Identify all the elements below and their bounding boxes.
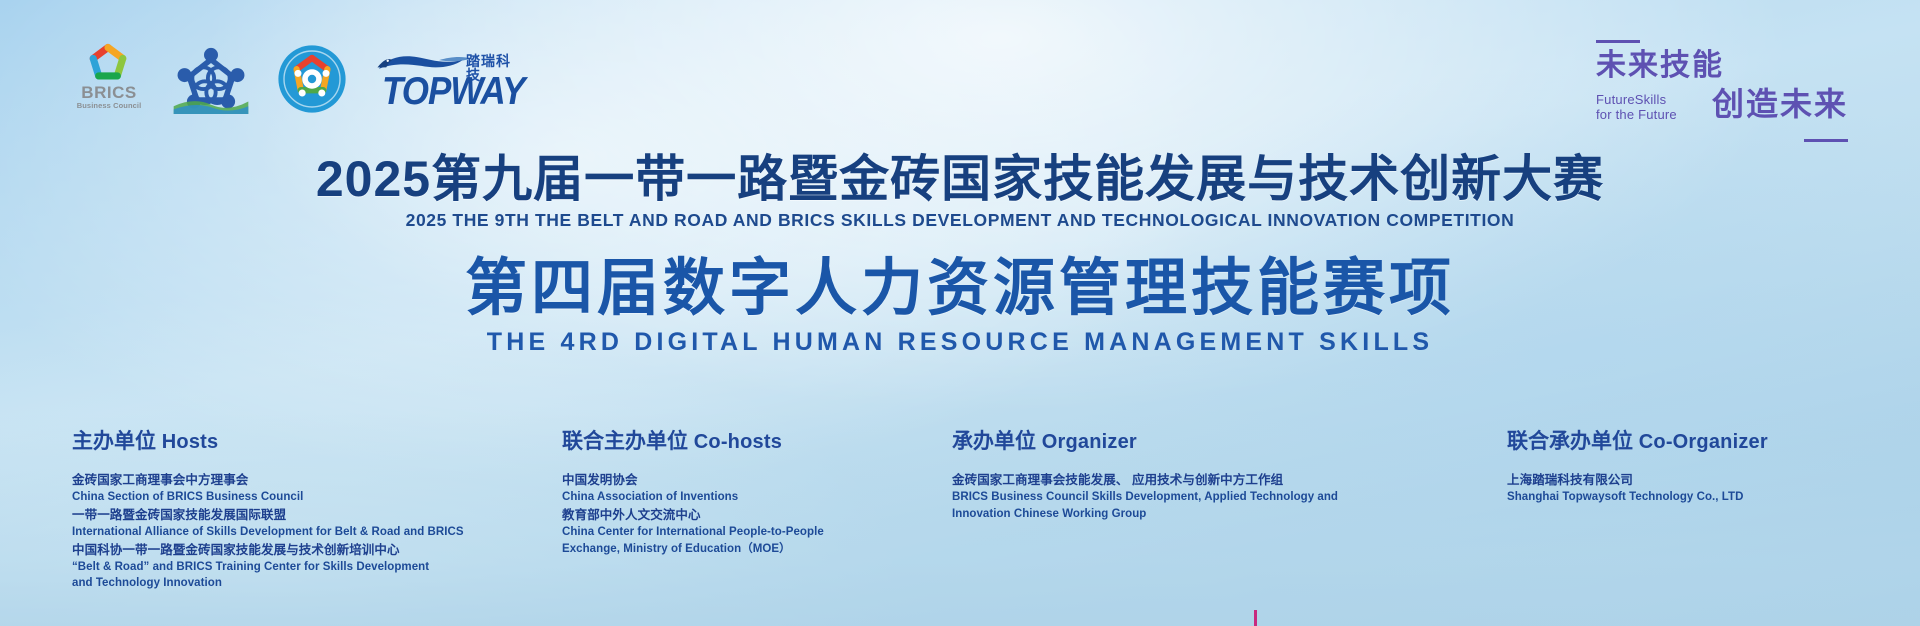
organizer-body: 上海踏瑞科技有限公司Shanghai Topwaysoft Technology… <box>1507 471 1847 506</box>
organizer-line-en: International Alliance of Skills Develop… <box>72 524 562 541</box>
organizer-heading: 联合承办单位 Co-Organizer <box>1507 430 1847 453</box>
futureskills-rule-top <box>1596 40 1640 43</box>
organizer-line-en: Exchange, Ministry of Education（MOE） <box>562 541 952 558</box>
skills-training-center-logo <box>276 44 348 114</box>
organizer-column-3: 承办单位 Organizer金砖国家工商理事会技能发展、 应用技术与创新中方工作… <box>952 430 1507 592</box>
organizer-heading-cn: 联合承办单位 <box>1507 430 1633 453</box>
organizer-line-en: “Belt & Road” and BRICS Training Center … <box>72 559 562 576</box>
futureskills-cn-line1: 未来技能 <box>1596 50 1724 82</box>
futureskills-en-line1: FutureSkills <box>1596 92 1677 107</box>
organizer-body: 金砖国家工商理事会中方理事会China Section of BRICS Bus… <box>72 471 562 592</box>
organizer-line-cn: 金砖国家工商理事会技能发展、 应用技术与创新中方工作组 <box>952 471 1507 489</box>
organizer-line-cn: 金砖国家工商理事会中方理事会 <box>72 471 562 489</box>
logo-row: BRICS Business Council <box>72 42 522 114</box>
organizer-heading-cn: 主办单位 <box>72 430 156 453</box>
organizer-line-cn: 教育部中外人文交流中心 <box>562 506 952 524</box>
organizer-heading: 主办单位 Hosts <box>72 430 562 453</box>
sub-title-cn: 第四届数字人力资源管理技能赛项 <box>0 255 1920 323</box>
futureskills-en: FutureSkills for the Future <box>1596 92 1677 123</box>
main-title-cn: 2025第九届一带一路暨金砖国家技能发展与技术创新大赛 <box>0 152 1920 206</box>
organizer-columns: 主办单位 Hosts金砖国家工商理事会中方理事会China Section of… <box>0 430 1920 592</box>
alliance-rings-icon <box>172 44 250 114</box>
competition-banner: BRICS Business Council <box>0 0 1920 626</box>
brics-business-council-logo: BRICS Business Council <box>72 42 146 114</box>
organizer-line-cn: 中国科协一带一路暨金砖国家技能发展与技术创新培训中心 <box>72 541 562 559</box>
topway-wordmark: TOPWAY <box>382 72 524 111</box>
organizer-heading-en: Hosts <box>156 431 218 453</box>
organizer-column-1: 主办单位 Hosts金砖国家工商理事会中方理事会China Section of… <box>72 430 562 592</box>
organizer-heading-en: Co-hosts <box>688 431 782 453</box>
belt-road-brics-alliance-logo <box>172 44 250 114</box>
organizer-body: 金砖国家工商理事会技能发展、 应用技术与创新中方工作组BRICS Busines… <box>952 471 1507 522</box>
organizer-line-en: Shanghai Topwaysoft Technology Co., LTD <box>1507 489 1847 506</box>
organizer-heading: 承办单位 Organizer <box>952 430 1507 453</box>
organizer-column-4: 联合承办单位 Co-Organizer上海踏瑞科技有限公司Shanghai To… <box>1507 430 1847 592</box>
organizer-line-cn: 一带一路暨金砖国家技能发展国际联盟 <box>72 506 562 524</box>
organizer-line-en: China Section of BRICS Business Council <box>72 489 562 506</box>
organizer-heading-cn: 联合主办单位 <box>562 430 688 453</box>
brics-star-icon <box>80 42 136 88</box>
training-center-badge-icon <box>276 44 348 114</box>
organizer-heading-cn: 承办单位 <box>952 430 1036 453</box>
sub-title-en: THE 4RD DIGITAL HUMAN RESOURCE MANAGEMEN… <box>0 329 1920 357</box>
main-title-en: 2025 THE 9TH THE BELT AND ROAD AND BRICS… <box>0 211 1920 230</box>
futureskills-badge: 未来技能 FutureSkills for the Future 创造未来 <box>1588 34 1848 142</box>
pink-accent-tick <box>1254 610 1257 626</box>
topway-logo: 踏瑞科技 TOPWAY <box>374 50 522 114</box>
organizer-column-2: 联合主办单位 Co-hosts中国发明协会China Association o… <box>562 430 952 592</box>
organizer-line-en: China Association of Inventions <box>562 489 952 506</box>
organizer-body: 中国发明协会China Association of Inventions教育部… <box>562 471 952 557</box>
organizer-heading: 联合主办单位 Co-hosts <box>562 430 952 453</box>
futureskills-cn-line2: 创造未来 <box>1712 88 1848 122</box>
organizer-line-en: and Technology Innovation <box>72 575 562 592</box>
organizer-line-en: China Center for International People-to… <box>562 524 952 541</box>
futureskills-en-line2: for the Future <box>1596 107 1677 122</box>
organizer-line-cn: 中国发明协会 <box>562 471 952 489</box>
organizer-line-cn: 上海踏瑞科技有限公司 <box>1507 471 1847 489</box>
futureskills-rule-bottom <box>1804 139 1848 142</box>
organizer-line-en: BRICS Business Council Skills Developmen… <box>952 489 1507 506</box>
brics-subwordmark: Business Council <box>72 102 146 110</box>
title-group: 2025第九届一带一路暨金砖国家技能发展与技术创新大赛 2025 THE 9TH… <box>0 152 1920 357</box>
organizer-line-en: Innovation Chinese Working Group <box>952 506 1507 523</box>
brics-wordmark: BRICS <box>72 84 146 101</box>
organizer-heading-en: Organizer <box>1036 431 1137 453</box>
organizer-heading-en: Co-Organizer <box>1633 431 1768 453</box>
